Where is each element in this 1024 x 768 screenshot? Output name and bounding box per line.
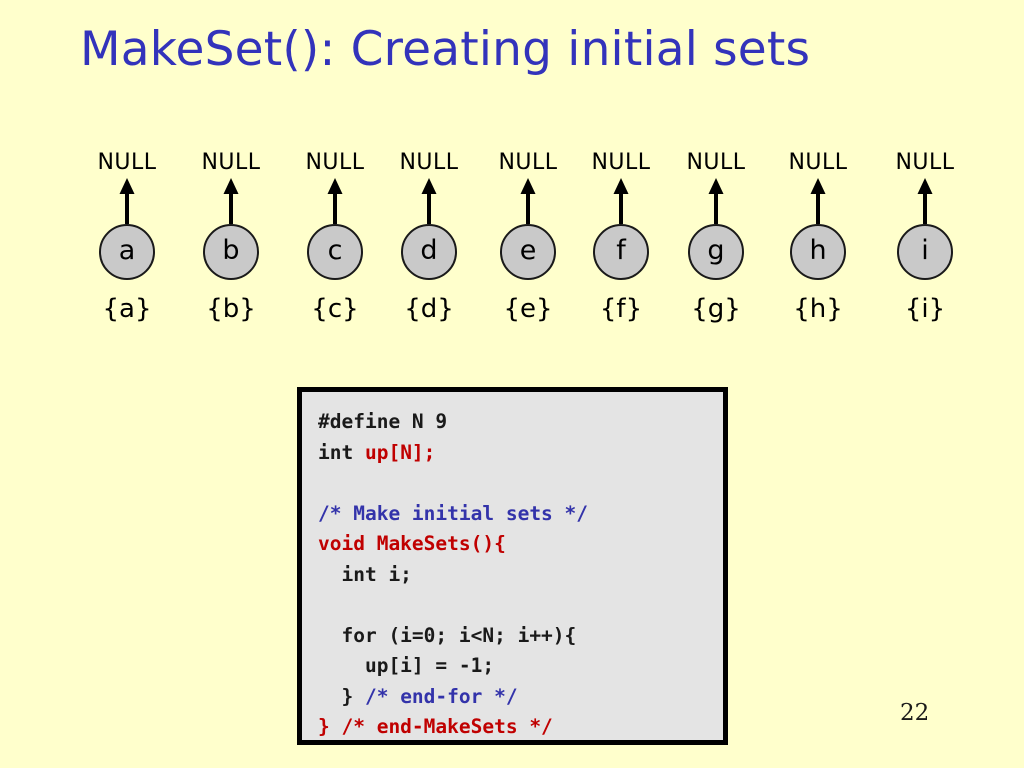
code-token: /* end-for */ bbox=[365, 685, 518, 708]
parent-pointer-label-d: NULL bbox=[377, 150, 481, 178]
arrow-up-icon bbox=[179, 178, 283, 224]
set-notation-label-i: {i} bbox=[873, 294, 977, 324]
code-token: #define N 9 bbox=[318, 410, 447, 433]
arrow-up-icon bbox=[476, 178, 580, 224]
set-node-b: b bbox=[203, 224, 259, 280]
arrow-up-icon bbox=[766, 178, 870, 224]
code-token: } bbox=[318, 685, 365, 708]
set-notation-label-h: {h} bbox=[766, 294, 870, 324]
set-notation-label-c: {c} bbox=[283, 294, 387, 324]
code-token: /* Make initial sets */ bbox=[318, 502, 588, 525]
code-line: } /* end-for */ bbox=[318, 682, 723, 713]
arrow-up-icon bbox=[873, 178, 977, 224]
node-label-h: h bbox=[792, 226, 844, 278]
parent-pointer-label-b: NULL bbox=[179, 150, 283, 178]
arrow-up-icon bbox=[283, 178, 387, 224]
node-label-g: g bbox=[690, 226, 742, 278]
code-token: } /* end-MakeSets */ bbox=[318, 715, 553, 738]
node-column-b: NULLb{b} bbox=[179, 150, 283, 324]
node-column-i: NULLi{i} bbox=[873, 150, 977, 324]
parent-pointer-label-i: NULL bbox=[873, 150, 977, 178]
code-listing: #define N 9int up[N];/* Make initial set… bbox=[318, 407, 723, 743]
code-token: void MakeSets(){ bbox=[318, 532, 506, 555]
set-notation-label-g: {g} bbox=[664, 294, 768, 324]
code-line: for (i=0; i<N; i++){ bbox=[318, 621, 723, 652]
code-line: /* Make initial sets */ bbox=[318, 499, 723, 530]
parent-pointer-label-g: NULL bbox=[664, 150, 768, 178]
arrow-up-icon bbox=[377, 178, 481, 224]
parent-pointer-label-f: NULL bbox=[569, 150, 673, 178]
node-label-i: i bbox=[899, 226, 951, 278]
code-token: ; bbox=[424, 441, 436, 464]
node-column-c: NULLc{c} bbox=[283, 150, 387, 324]
node-label-c: c bbox=[309, 226, 361, 278]
parent-pointer-label-a: NULL bbox=[75, 150, 179, 178]
node-column-a: NULLa{a} bbox=[75, 150, 179, 324]
node-column-f: NULLf{f} bbox=[569, 150, 673, 324]
parent-pointer-label-c: NULL bbox=[283, 150, 387, 178]
set-notation-label-b: {b} bbox=[179, 294, 283, 324]
code-line bbox=[318, 590, 723, 621]
node-column-g: NULLg{g} bbox=[664, 150, 768, 324]
node-label-f: f bbox=[595, 226, 647, 278]
set-notation-label-f: {f} bbox=[569, 294, 673, 324]
node-column-h: NULLh{h} bbox=[766, 150, 870, 324]
node-column-e: NULLe{e} bbox=[476, 150, 580, 324]
node-label-b: b bbox=[205, 226, 257, 278]
code-token: int i; bbox=[318, 563, 412, 586]
code-line: up[i] = -1; bbox=[318, 651, 723, 682]
code-token: up[N] bbox=[365, 441, 424, 464]
arrow-up-icon bbox=[569, 178, 673, 224]
node-column-d: NULLd{d} bbox=[377, 150, 481, 324]
code-line: int up[N]; bbox=[318, 438, 723, 469]
code-line bbox=[318, 468, 723, 499]
set-notation-label-e: {e} bbox=[476, 294, 580, 324]
set-node-e: e bbox=[500, 224, 556, 280]
set-node-h: h bbox=[790, 224, 846, 280]
arrow-up-icon bbox=[664, 178, 768, 224]
code-token: int bbox=[318, 441, 365, 464]
code-line: int i; bbox=[318, 560, 723, 591]
set-notation-label-a: {a} bbox=[75, 294, 179, 324]
parent-pointer-label-h: NULL bbox=[766, 150, 870, 178]
set-node-c: c bbox=[307, 224, 363, 280]
code-line: #define N 9 bbox=[318, 407, 723, 438]
set-node-g: g bbox=[688, 224, 744, 280]
code-snippet-box: #define N 9int up[N];/* Make initial set… bbox=[297, 387, 728, 745]
code-line: void MakeSets(){ bbox=[318, 529, 723, 560]
code-token: for (i=0; i<N; i++){ bbox=[318, 624, 576, 647]
code-line: } /* end-MakeSets */ bbox=[318, 712, 723, 743]
node-label-a: a bbox=[101, 226, 153, 278]
disjoint-set-forest-diagram: NULLa{a}NULLb{b}NULLc{c}NULLd{d}NULLe{e}… bbox=[0, 150, 1024, 350]
set-notation-label-d: {d} bbox=[377, 294, 481, 324]
arrow-up-icon bbox=[75, 178, 179, 224]
slide-number: 22 bbox=[900, 700, 929, 726]
code-token: up[i] = -1; bbox=[318, 654, 494, 677]
set-node-f: f bbox=[593, 224, 649, 280]
set-node-d: d bbox=[401, 224, 457, 280]
set-node-i: i bbox=[897, 224, 953, 280]
node-label-d: d bbox=[403, 226, 455, 278]
page-title: MakeSet(): Creating initial sets bbox=[80, 22, 960, 77]
set-node-a: a bbox=[99, 224, 155, 280]
node-label-e: e bbox=[502, 226, 554, 278]
parent-pointer-label-e: NULL bbox=[476, 150, 580, 178]
